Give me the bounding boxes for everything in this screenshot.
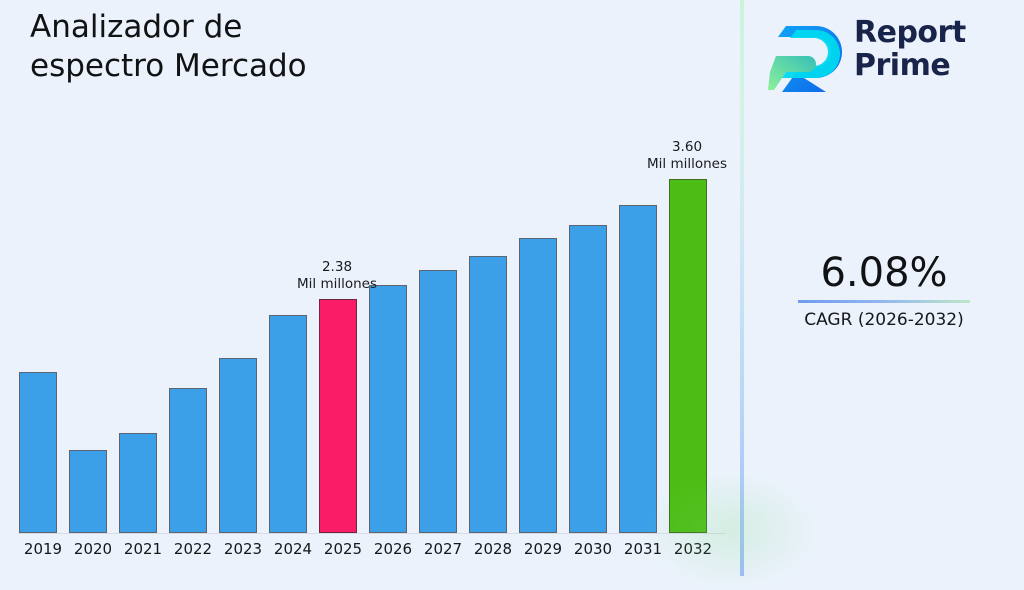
x-tick-2029: 2029 <box>518 540 568 558</box>
bar-slot-2030 <box>568 120 618 533</box>
bar-2030[interactable] <box>569 225 607 533</box>
bar-2020[interactable] <box>69 450 107 533</box>
chart-panel: Analizador de espectro Mercado 2.38 Mil … <box>0 0 740 576</box>
brand-wordmark-line-2: Prime <box>854 49 1014 82</box>
bar-2026[interactable] <box>369 285 407 533</box>
bar-slot-2024 <box>268 120 318 533</box>
x-tick-2030: 2030 <box>568 540 618 558</box>
bar-slot-2032 <box>668 120 718 533</box>
report-prime-monogram-icon <box>768 16 850 92</box>
bar-slot-2031 <box>618 120 668 533</box>
bar-slot-2028 <box>468 120 518 533</box>
bar-2029[interactable] <box>519 238 557 533</box>
x-axis-line <box>18 533 726 534</box>
x-tick-2022: 2022 <box>168 540 218 558</box>
x-tick-2028: 2028 <box>468 540 518 558</box>
bar-slot-2019 <box>18 120 68 533</box>
x-tick-2019: 2019 <box>18 540 68 558</box>
brand-logo[interactable]: Report Prime <box>768 12 1008 96</box>
cagr-block: 6.08% CAGR (2026-2032) <box>744 250 1024 331</box>
summary-panel: Report Prime 6.08% CAGR (2026-2032) <box>744 0 1024 576</box>
x-tick-2026: 2026 <box>368 540 418 558</box>
bar-2028[interactable] <box>469 256 507 533</box>
cagr-value: 6.08% <box>744 250 1024 296</box>
x-tick-2025: 2025 <box>318 540 368 558</box>
bar-2023[interactable] <box>219 358 257 533</box>
x-tick-2024: 2024 <box>268 540 318 558</box>
bar-2022[interactable] <box>169 388 207 533</box>
brand-wordmark: Report Prime <box>854 16 1014 82</box>
bar-slot-2027 <box>418 120 468 533</box>
bar-slot-2025 <box>318 120 368 533</box>
bar-callout-2025: 2.38 Mil millones <box>252 259 422 293</box>
bar-2019[interactable] <box>19 372 57 533</box>
page-title: Analizador de espectro Mercado <box>30 8 500 86</box>
cagr-divider-rule <box>798 300 970 303</box>
bar-2024[interactable] <box>269 315 307 533</box>
x-tick-2032: 2032 <box>668 540 718 558</box>
bar-2021[interactable] <box>119 433 157 533</box>
x-tick-2031: 2031 <box>618 540 668 558</box>
bar-2031[interactable] <box>619 205 657 533</box>
chart-plot-area: 2.38 Mil millones3.60 Mil millones <box>0 120 726 533</box>
bar-2032[interactable] <box>669 179 707 533</box>
bar-slot-2020 <box>68 120 118 533</box>
page-title-line-2: espectro Mercado <box>30 47 500 86</box>
brand-wordmark-line-1: Report <box>854 16 1014 49</box>
bar-2027[interactable] <box>419 270 457 533</box>
bar-slot-2023 <box>218 120 268 533</box>
cagr-label: CAGR (2026-2032) <box>744 309 1024 331</box>
slide-root: Analizador de espectro Mercado 2.38 Mil … <box>0 0 1024 576</box>
x-tick-2021: 2021 <box>118 540 168 558</box>
bar-slot-2021 <box>118 120 168 533</box>
page-title-line-1: Analizador de <box>30 8 500 47</box>
bar-2025[interactable] <box>319 299 357 533</box>
x-tick-2023: 2023 <box>218 540 268 558</box>
bar-slot-2022 <box>168 120 218 533</box>
x-tick-2027: 2027 <box>418 540 468 558</box>
bar-slot-2026 <box>368 120 418 533</box>
bar-chart: 2.38 Mil millones3.60 Mil millones 20192… <box>0 120 740 576</box>
bar-slot-2029 <box>518 120 568 533</box>
x-tick-2020: 2020 <box>68 540 118 558</box>
